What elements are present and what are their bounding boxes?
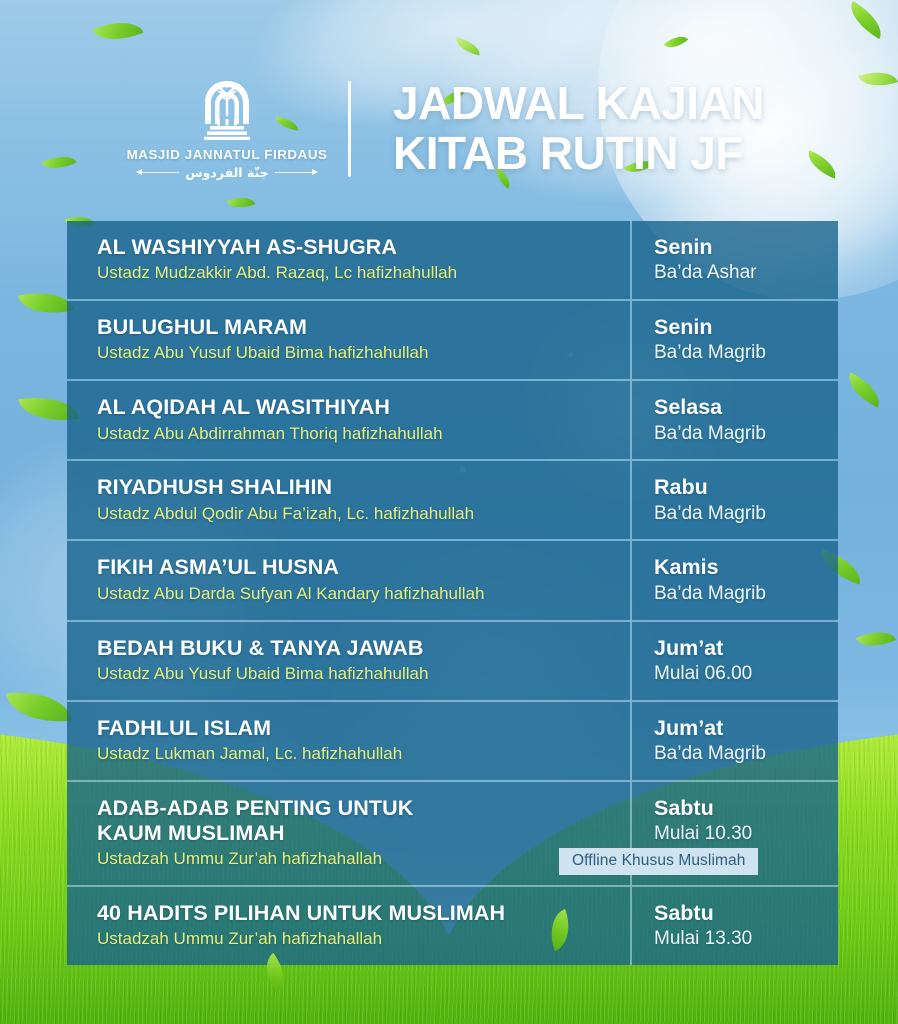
schedule-cell: Sabtu Mulai 13.30	[632, 887, 838, 965]
ustadz-name: Ustadz Abu Darda Sufyan Al Kandary hafiz…	[97, 583, 614, 605]
schedule-day: Senin	[654, 315, 822, 340]
kitab-cell: BEDAH BUKU & TANYA JAWAB Ustadz Abu Yusu…	[67, 622, 632, 700]
page-title-line-1: JADWAL KAJIAN	[393, 79, 764, 129]
schedule-day: Rabu	[654, 475, 822, 500]
kitab-cell: AL AQIDAH AL WASITHIYAH Ustadz Abu Abdir…	[67, 381, 632, 459]
table-row: 40 HADITS PILIHAN UNTUK MUSLIMAH Ustadza…	[67, 887, 838, 965]
poster-header: MASJID JANNATUL FIRDAUS جنّة الفردوس JAD…	[0, 78, 898, 180]
header-divider	[348, 81, 351, 177]
schedule-time: Mulai 06.00	[654, 662, 822, 686]
schedule-time: Ba’da Magrib	[654, 422, 822, 446]
ustadz-name: Ustadz Abu Yusuf Ubaid Bima hafizhahulla…	[97, 342, 614, 364]
table-row: BEDAH BUKU & TANYA JAWAB Ustadz Abu Yusu…	[67, 622, 838, 702]
schedule-time: Ba’da Ashar	[654, 261, 822, 285]
ustadz-name: Ustadzah Ummu Zur’ah hafizhahallah	[97, 928, 614, 950]
poster-title-group: JADWAL KAJIAN KITAB RUTIN JF	[373, 79, 764, 178]
kitab-title-line-2: KAUM MUSLIMAH	[97, 821, 614, 846]
ustadz-name: Ustadz Mudzakkir Abd. Razaq, Lc hafizhah…	[97, 262, 614, 284]
leaf-icon	[454, 37, 482, 55]
schedule-time: Mulai 13.30	[654, 927, 822, 951]
leaf-icon	[93, 12, 144, 50]
schedule-time: Ba’da Magrib	[654, 582, 822, 606]
kitab-cell: RIYADHUSH SHALIHIN Ustadz Abdul Qodir Ab…	[67, 461, 632, 539]
schedule-cell: Jum’at Mulai 06.00	[632, 622, 838, 700]
kitab-cell: FADHLUL ISLAM Ustadz Lukman Jamal, Lc. h…	[67, 702, 632, 780]
schedule-day: Kamis	[654, 555, 822, 580]
schedule-time: Mulai 10.30	[654, 822, 822, 846]
schedule-cell: Selasa Ba’da Magrib	[632, 381, 838, 459]
schedule-day: Senin	[654, 235, 822, 260]
schedule-cell: Rabu Ba’da Magrib	[632, 461, 838, 539]
kitab-title: RIYADHUSH SHALIHIN	[97, 475, 614, 500]
schedule-time: Ba’da Magrib	[654, 742, 822, 766]
kitab-cell: AL WASHIYYAH AS-SHUGRA Ustadz Mudzakkir …	[67, 221, 632, 299]
leaf-icon	[6, 687, 71, 727]
kitab-cell: ADAB-ADAB PENTING UNTUK KAUM MUSLIMAH Us…	[67, 782, 632, 885]
schedule-day: Sabtu	[654, 796, 822, 821]
table-row: FADHLUL ISLAM Ustadz Lukman Jamal, Lc. h…	[67, 702, 838, 782]
kitab-cell: FIKIH ASMA’UL HUSNA Ustadz Abu Darda Suf…	[67, 541, 632, 619]
schedule-cell: Senin Ba’da Magrib	[632, 301, 838, 379]
kitab-title-line-1: ADAB-ADAB PENTING UNTUK	[97, 796, 614, 821]
schedule-cell: Senin Ba’da Ashar	[632, 221, 838, 299]
table-row: FIKIH ASMA’UL HUSNA Ustadz Abu Darda Suf…	[67, 541, 838, 621]
brand-arabic-name: جنّة الفردوس	[185, 165, 268, 180]
poster-canvas: MASJID JANNATUL FIRDAUS جنّة الفردوس JAD…	[0, 0, 898, 1024]
kitab-title: FIKIH ASMA’UL HUSNA	[97, 555, 614, 580]
kitab-cell: 40 HADITS PILIHAN UNTUK MUSLIMAH Ustadza…	[67, 887, 632, 965]
ornament-rule-right	[275, 172, 317, 173]
schedule-day: Selasa	[654, 395, 822, 420]
kitab-title: BEDAH BUKU & TANYA JAWAB	[97, 636, 614, 661]
leaf-icon	[842, 372, 887, 408]
schedule-time: Ba’da Magrib	[654, 341, 822, 365]
ustadz-name: Ustadz Lukman Jamal, Lc. hafizhahullah	[97, 743, 614, 765]
schedule-cell: Jum’at Ba’da Magrib	[632, 702, 838, 780]
ustadz-name: Ustadz Abdul Qodir Abu Fa’izah, Lc. hafi…	[97, 503, 614, 525]
leaf-icon	[664, 30, 689, 53]
schedule-table: AL WASHIYYAH AS-SHUGRA Ustadz Mudzakkir …	[67, 221, 838, 965]
leaf-icon	[856, 623, 896, 654]
table-row: AL WASHIYYAH AS-SHUGRA Ustadz Mudzakkir …	[67, 221, 838, 301]
mosque-dome-palm-icon	[199, 78, 255, 140]
schedule-day: Sabtu	[654, 901, 822, 926]
kitab-title: AL WASHIYYAH AS-SHUGRA	[97, 235, 614, 260]
leaf-icon	[227, 192, 256, 213]
kitab-title: FADHLUL ISLAM	[97, 716, 614, 741]
table-row: ADAB-ADAB PENTING UNTUK KAUM MUSLIMAH Us…	[67, 782, 838, 887]
schedule-time: Ba’da Magrib	[654, 502, 822, 526]
brand-name: MASJID JANNATUL FIRDAUS	[127, 147, 328, 162]
kitab-title: 40 HADITS PILIHAN UNTUK MUSLIMAH	[97, 901, 614, 926]
ustadz-name: Ustadz Abu Abdirrahman Thoriq hafizhahul…	[97, 423, 614, 445]
kitab-cell: BULUGHUL MARAM Ustadz Abu Yusuf Ubaid Bi…	[67, 301, 632, 379]
ustadz-name: Ustadz Abu Yusuf Ubaid Bima hafizhahulla…	[97, 663, 614, 685]
leaf-icon	[18, 285, 74, 321]
schedule-day: Jum’at	[654, 716, 822, 741]
page-title-line-2: KITAB RUTIN JF	[393, 129, 764, 179]
table-row: BULUGHUL MARAM Ustadz Abu Yusuf Ubaid Bi…	[67, 301, 838, 381]
brand-block: MASJID JANNATUL FIRDAUS جنّة الفردوس	[134, 78, 326, 180]
table-row: AL AQIDAH AL WASITHIYAH Ustadz Abu Abdir…	[67, 381, 838, 461]
kitab-title: BULUGHUL MARAM	[97, 315, 614, 340]
table-row: RIYADHUSH SHALIHIN Ustadz Abdul Qodir Ab…	[67, 461, 838, 541]
ornament-rule-left	[137, 172, 179, 173]
schedule-day: Jum’at	[654, 636, 822, 661]
ustadz-name: Ustadzah Ummu Zur’ah hafizhahallah	[97, 848, 614, 870]
schedule-cell: Kamis Ba’da Magrib	[632, 541, 838, 619]
status-badge: Offline Khusus Muslimah	[559, 848, 758, 875]
leaf-icon	[843, 1, 889, 39]
brand-arabic-row: جنّة الفردوس	[134, 165, 320, 180]
kitab-title: AL AQIDAH AL WASITHIYAH	[97, 395, 614, 420]
